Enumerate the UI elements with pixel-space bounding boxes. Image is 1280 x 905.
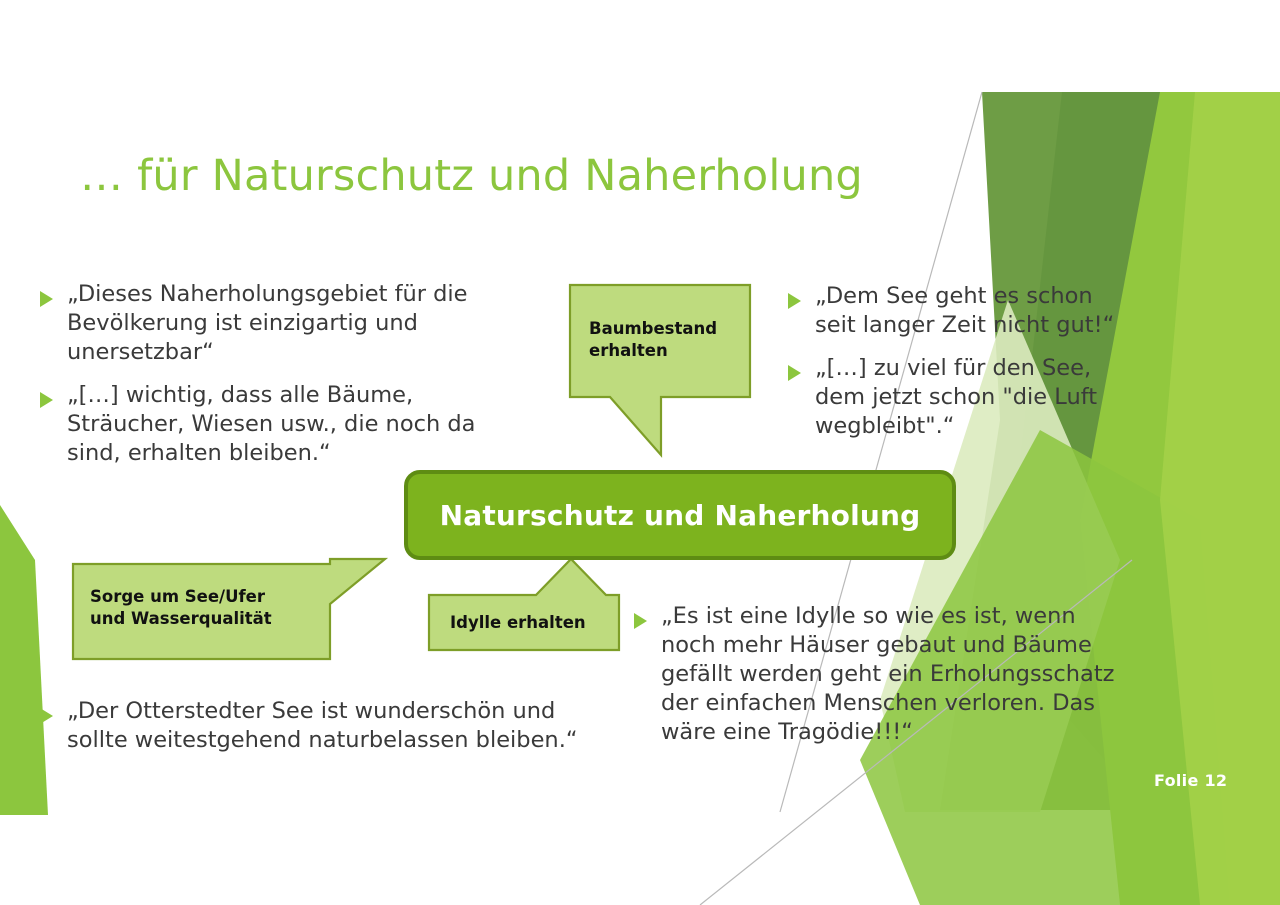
callout-baumbestand-shape bbox=[570, 285, 750, 455]
center-banner-label: Naturschutz und Naherholung bbox=[440, 499, 921, 532]
quote-block-left-bottom: „Der Otterstedter See ist wunderschön un… bbox=[40, 697, 660, 755]
presentation-slide: … für Naturschutz und Naherholung „Diese… bbox=[0, 0, 1280, 905]
quote-text: „Dieses Naherholungsgebiet für die Bevöl… bbox=[67, 280, 468, 367]
quote-text: „[…] wichtig, dass alle Bäume, Sträucher… bbox=[67, 381, 475, 468]
quote-text: „Der Otterstedter See ist wunderschön un… bbox=[67, 697, 578, 755]
list-item: „Der Otterstedter See ist wunderschön un… bbox=[40, 697, 660, 755]
triangle-bullet-icon bbox=[40, 708, 53, 724]
list-item: „Dieses Naherholungsgebiet für die Bevöl… bbox=[40, 280, 530, 367]
quote-text: „Dem See geht es schon seit langer Zeit … bbox=[815, 282, 1114, 340]
triangle-bullet-icon bbox=[788, 365, 801, 381]
callout-sorge: Sorge um See/Ufer und Wasserqualität bbox=[72, 558, 387, 660]
quote-block-right-top: „Dem See geht es schon seit langer Zeit … bbox=[788, 282, 1188, 441]
callout-sorge-label: Sorge um See/Ufer und Wasserqualität bbox=[90, 586, 330, 630]
callout-idylle-shape bbox=[429, 559, 619, 650]
list-item: „[…] zu viel für den See, dem jetzt scho… bbox=[788, 354, 1188, 441]
callout-idylle: Idylle erhalten bbox=[428, 557, 620, 652]
list-item: „Dem See geht es schon seit langer Zeit … bbox=[788, 282, 1188, 340]
triangle-bullet-icon bbox=[40, 291, 53, 307]
triangle-bullet-icon bbox=[634, 613, 647, 629]
callout-baumbestand: Baumbestand erhalten bbox=[569, 284, 751, 456]
callout-idylle-label: Idylle erhalten bbox=[450, 612, 620, 634]
callout-baumbestand-label: Baumbestand erhalten bbox=[589, 318, 739, 362]
quote-text: „[…] zu viel für den See, dem jetzt scho… bbox=[815, 354, 1097, 441]
center-banner: Naturschutz und Naherholung bbox=[404, 470, 956, 560]
list-item: „Es ist eine Idylle so wie es ist, wenn … bbox=[634, 602, 1174, 747]
quote-block-left-top: „Dieses Naherholungsgebiet für die Bevöl… bbox=[40, 280, 530, 467]
quote-block-right-bottom: „Es ist eine Idylle so wie es ist, wenn … bbox=[634, 602, 1174, 747]
list-item: „[…] wichtig, dass alle Bäume, Sträucher… bbox=[40, 381, 530, 468]
triangle-bullet-icon bbox=[40, 392, 53, 408]
quote-text: „Es ist eine Idylle so wie es ist, wenn … bbox=[661, 602, 1114, 747]
left-green-wedge bbox=[0, 505, 48, 815]
slide-title: … für Naturschutz und Naherholung bbox=[80, 152, 980, 200]
triangle-bullet-icon bbox=[788, 293, 801, 309]
slide-number: Folie 12 bbox=[1154, 771, 1227, 790]
